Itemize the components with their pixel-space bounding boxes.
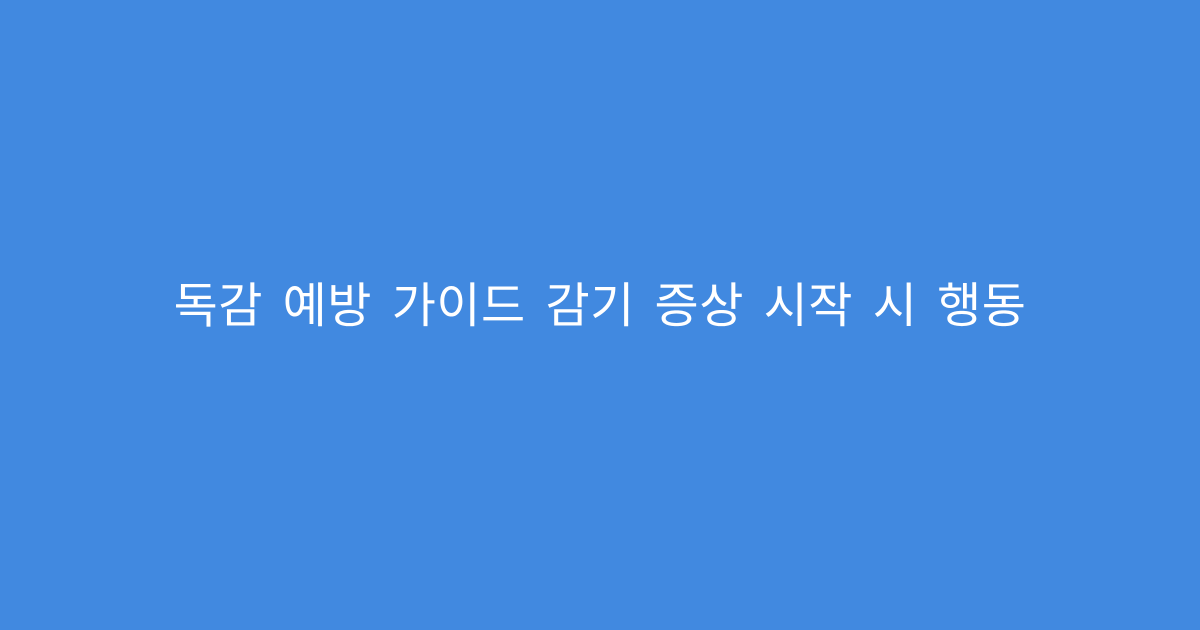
headline-container: 독감 예방 가이드 감기 증상 시작 시 행동 <box>0 276 1200 337</box>
page-title: 독감 예방 가이드 감기 증상 시작 시 행동 <box>174 276 1027 337</box>
og-banner-card: 독감 예방 가이드 감기 증상 시작 시 행동 <box>0 0 1200 630</box>
